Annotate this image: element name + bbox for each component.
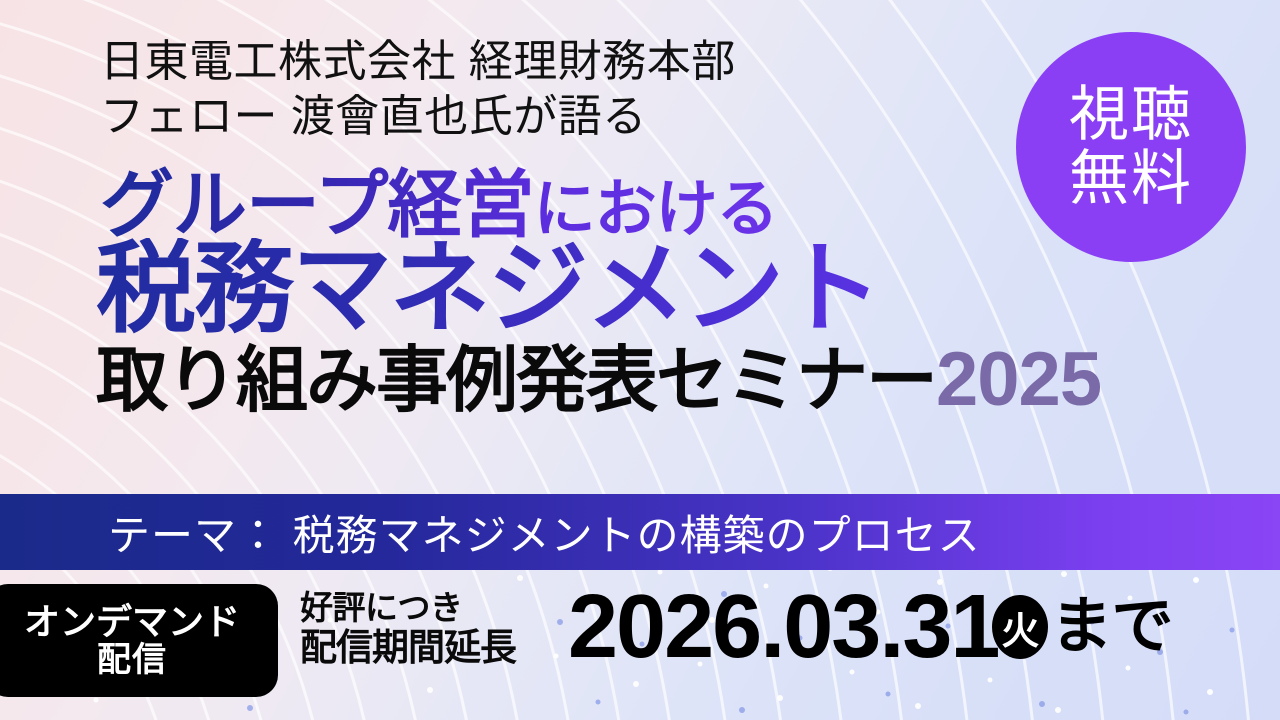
presenter-info: 日東電工株式会社 経理財務本部 フェロー 渡會直也氏が語る: [100, 34, 736, 145]
ondemand-label-line2: 配信: [97, 642, 167, 679]
free-badge-line1: 視聴: [1069, 83, 1193, 147]
presenter-line-2: フェロー 渡會直也氏が語る: [100, 89, 736, 144]
deadline-date-number: 2026.03.31: [568, 582, 998, 672]
extension-note-line1: 好評につき: [300, 590, 516, 627]
ondemand-label-line1: オンデマンド: [24, 603, 240, 642]
free-viewing-badge: 視聴 無料: [1016, 32, 1246, 262]
bottom-bar: オンデマンド 配信 好評につき 配信期間延長 2026.03.31 火 まで: [0, 570, 1280, 720]
headline-line-3: 取り組み事例発表セミナー2025: [0, 342, 1280, 418]
headline-seminar-label: 取り組み事例発表セミナー: [96, 341, 936, 421]
deadline-date: 2026.03.31 火 まで: [568, 582, 1172, 672]
presenter-line-1: 日東電工株式会社 経理財務本部: [100, 34, 736, 89]
extension-note-line2: 配信期間延長: [300, 627, 516, 668]
seminar-banner: 視聴 無料 日東電工株式会社 経理財務本部 フェロー 渡會直也氏が語る グループ…: [0, 0, 1280, 720]
theme-band: テーマ： 税務マネジメントの構築のプロセス: [0, 494, 1280, 570]
headline-year: 2025: [936, 337, 1101, 422]
deadline-suffix: まで: [1050, 596, 1172, 658]
free-badge-line2: 無料: [1069, 147, 1193, 211]
extension-note: 好評につき 配信期間延長: [300, 590, 516, 668]
day-of-week-chip: 火: [992, 595, 1048, 659]
ondemand-badge: オンデマンド 配信: [0, 584, 278, 697]
theme-text: テーマ： 税務マネジメントの構築のプロセス: [0, 502, 981, 563]
